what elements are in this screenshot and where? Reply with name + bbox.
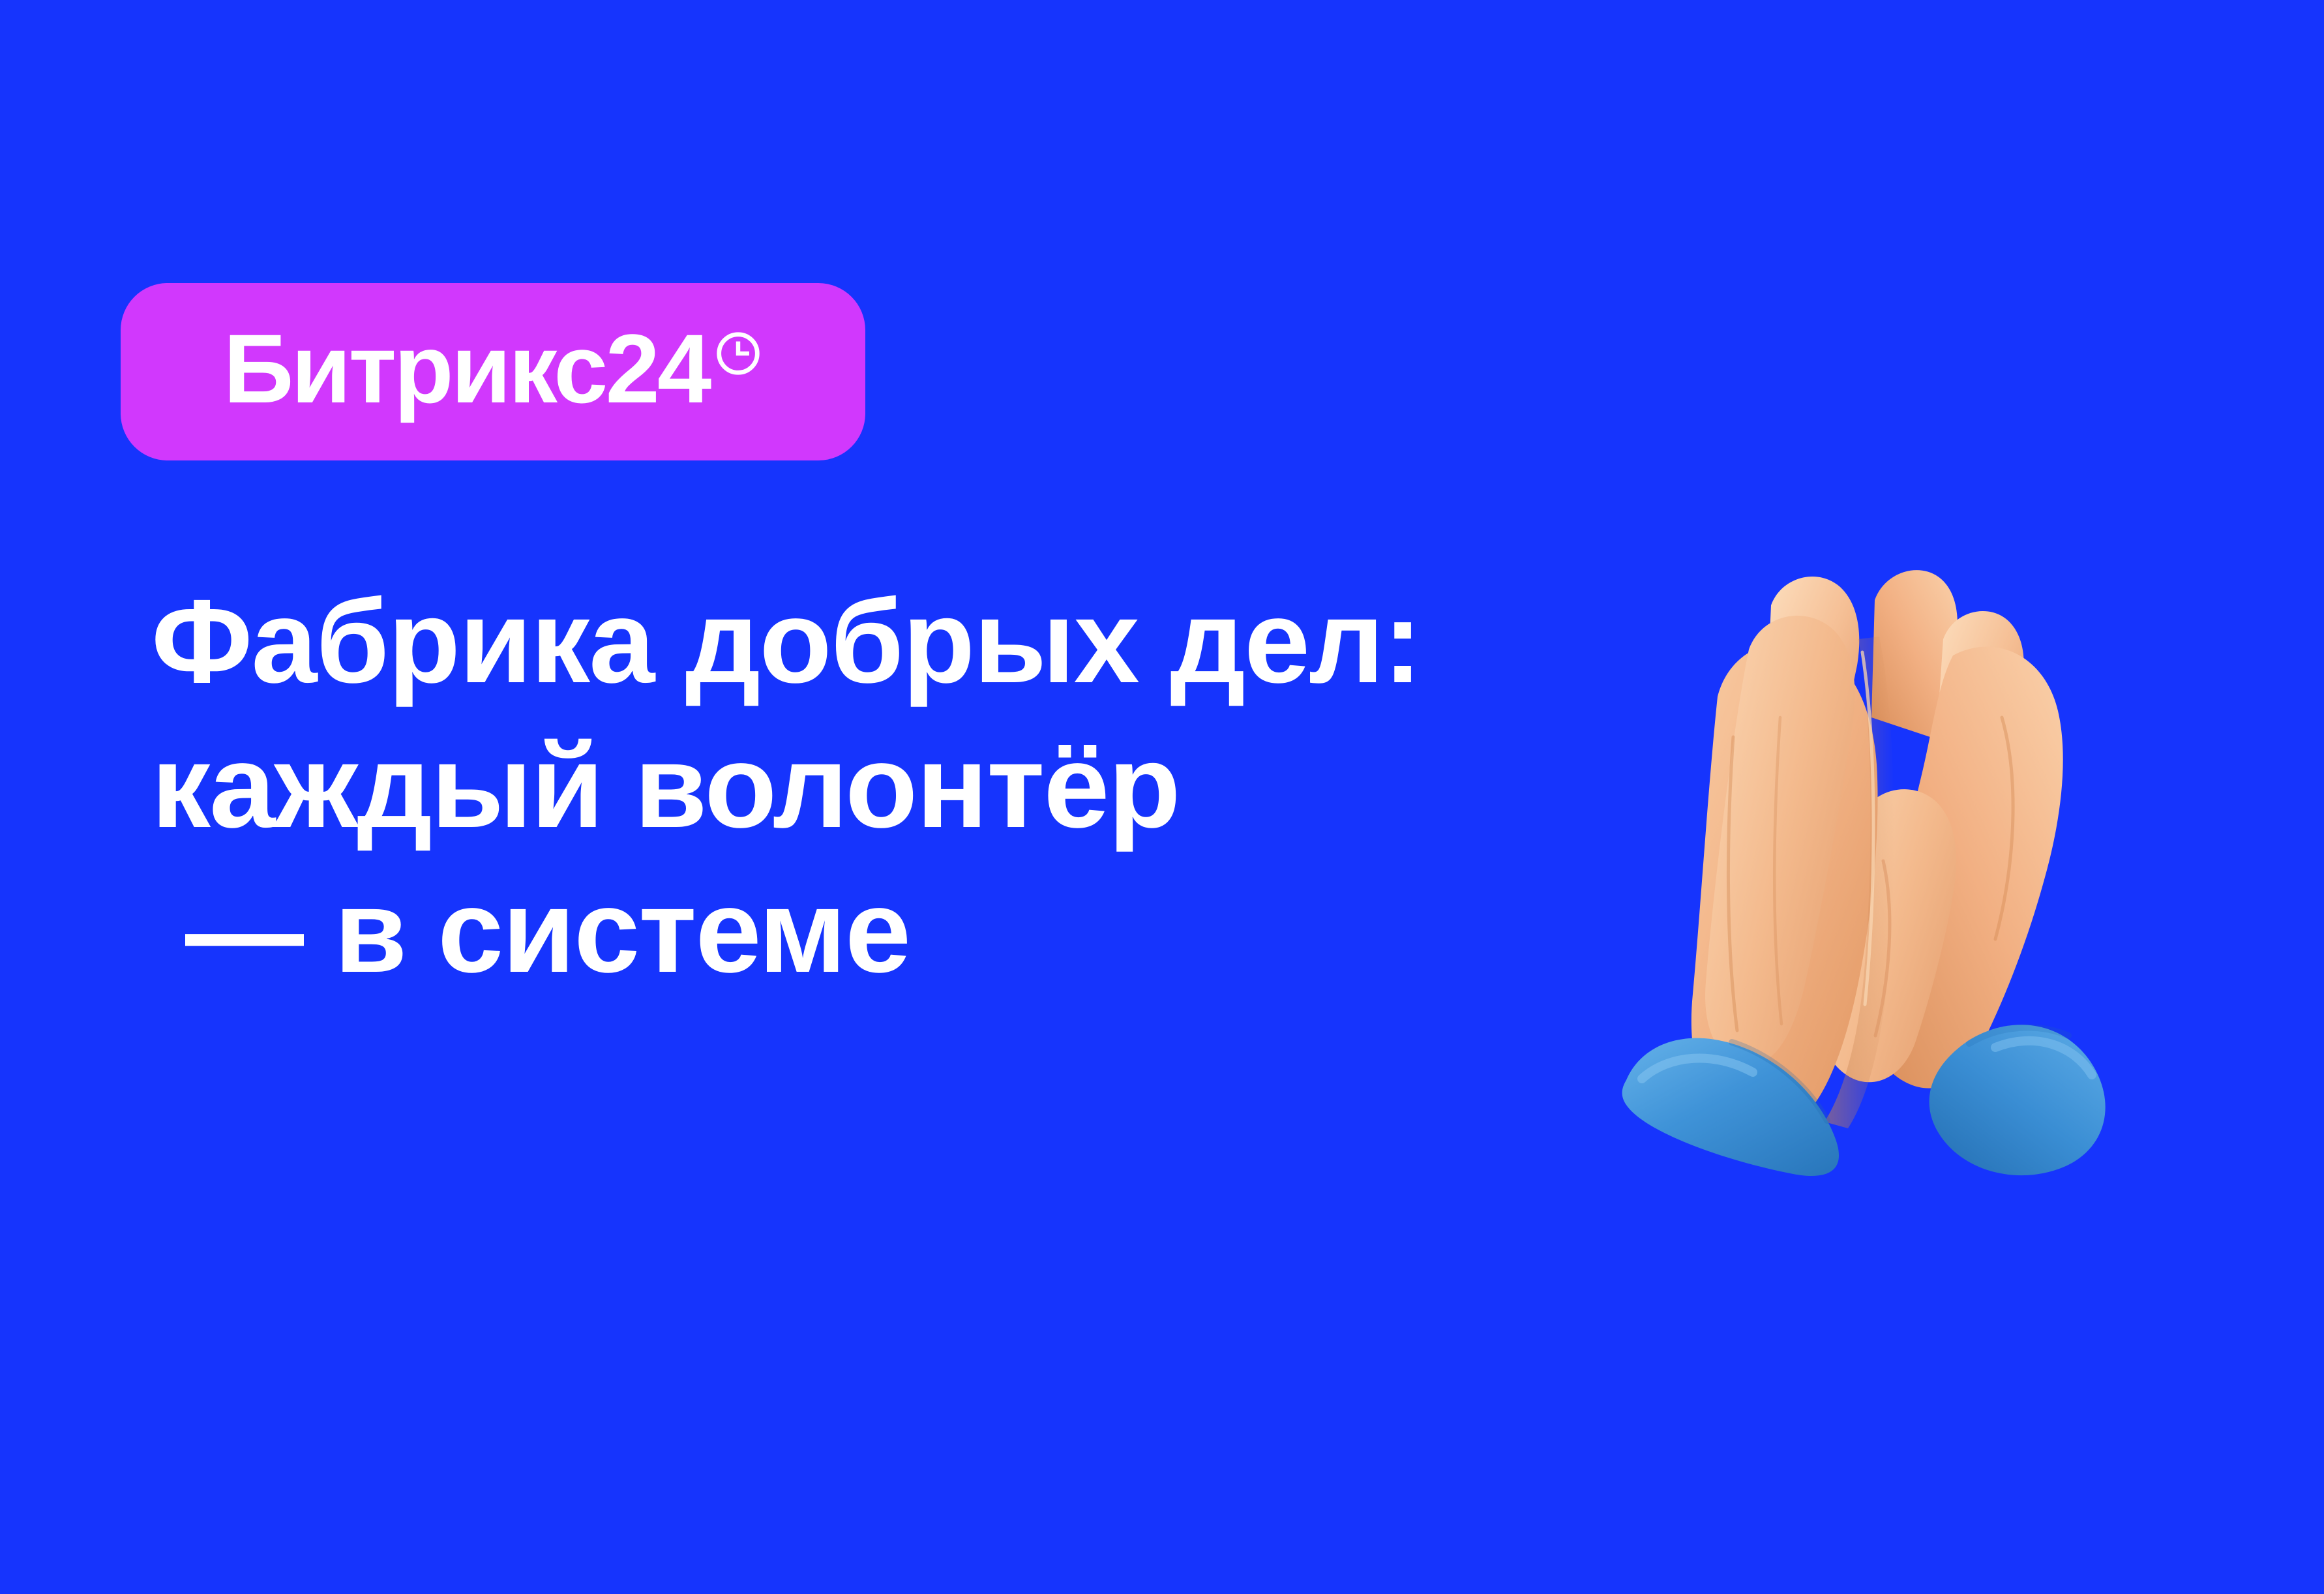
headline-line-1: Фабрика добрых дел: xyxy=(151,569,1573,714)
folded-hands-emoji xyxy=(1578,522,2158,1180)
headline-line-2: каждый волонтёр xyxy=(151,714,1573,858)
brand-name: Битрикс24 xyxy=(224,320,709,417)
brand-badge: Битрикс24 xyxy=(121,283,865,460)
promo-banner: Битрикс24 Фабрика добрых дел: каждый вол… xyxy=(0,0,2324,1594)
headline-line-3: — в системе xyxy=(151,858,1573,1003)
clock-icon xyxy=(714,329,762,378)
headline: Фабрика добрых дел: каждый волонтёр — в … xyxy=(151,569,1573,1003)
